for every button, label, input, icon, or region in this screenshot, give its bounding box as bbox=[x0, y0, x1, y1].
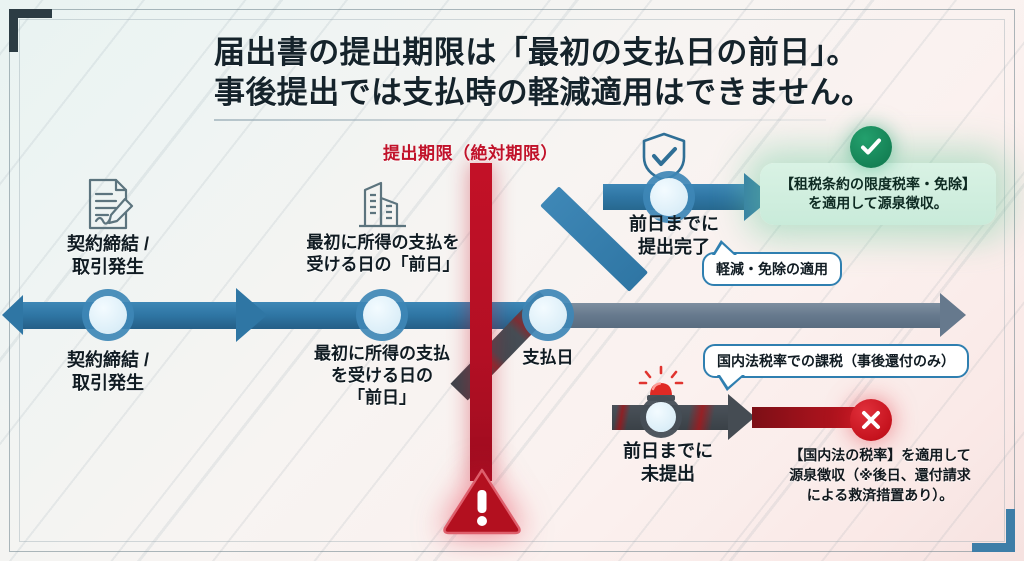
branch-failure-arrowhead bbox=[728, 394, 755, 440]
result-failure-line-1: 【国内法の税率】を適用して bbox=[757, 446, 1003, 466]
timeline-arrowhead-gray bbox=[940, 293, 966, 337]
result-failure-line-2: 源泉徴収（※後日、還付請求 bbox=[757, 466, 1003, 486]
node-contract[interactable] bbox=[89, 296, 127, 334]
title-underline bbox=[214, 119, 826, 121]
result-box-failure: 【国内法の税率】を適用して 源泉徴収（※後日、還付請求 による救済措置あり）。 bbox=[757, 446, 1003, 506]
bubble-reduction-exemption: 軽減・免除の適用 bbox=[702, 252, 842, 286]
bubble-domestic-tax-rate: 国内法税率での課税（事後還付のみ） bbox=[703, 344, 969, 378]
node-day-before-payment[interactable] bbox=[363, 296, 401, 334]
check-circle-icon bbox=[850, 126, 892, 168]
node-submitted-on-time[interactable] bbox=[650, 178, 688, 216]
result-box-success: 【租税条約の限度税率・免除】 を適用して源泉徴収。 bbox=[760, 163, 996, 225]
node-contract-label-above: 契約締結 / 取引発生 bbox=[26, 233, 190, 279]
node-daybefore-label-above: 最初に所得の支払を 受ける日の「前日」 bbox=[278, 232, 488, 276]
node-not-submitted[interactable] bbox=[646, 402, 676, 432]
bubble-failure-text: 国内法税率での課税（事後還付のみ） bbox=[717, 351, 955, 371]
corner-bracket-bottom-right bbox=[972, 509, 1015, 552]
building-icon bbox=[353, 176, 411, 239]
bubble-success-text: 軽減・免除の適用 bbox=[716, 259, 828, 279]
slide-canvas: 届出書の提出期限は「最初の支払日の前日」。 事後提出では支払時の軽減適用はできま… bbox=[0, 0, 1024, 561]
result-success-line-2: を適用して源泉徴収。 bbox=[808, 195, 948, 211]
document-pen-icon bbox=[76, 172, 140, 241]
deadline-vertical-line bbox=[470, 163, 492, 481]
node-daybefore-label-below: 最初に所得の支払 を受ける日の 「前日」 bbox=[286, 343, 478, 408]
timeline-continuation-bar bbox=[534, 303, 948, 328]
node-contract-label-below: 契約締結 / 取引発生 bbox=[26, 349, 190, 395]
bubble-tail-inner-2 bbox=[720, 375, 742, 387]
timeline-arrowhead-blue bbox=[236, 288, 267, 342]
title-line-1: 届出書の提出期限は「最初の支払日の前日」。 bbox=[214, 33, 854, 73]
warning-triangle-icon bbox=[442, 466, 522, 536]
page-title: 届出書の提出期限は「最初の支払日の前日」。 事後提出では支払時の軽減適用はできま… bbox=[214, 33, 854, 114]
node-payment-date-label: 支払日 bbox=[490, 347, 606, 369]
result-success-line-1: 【租税条約の限度税率・免除】 bbox=[780, 176, 976, 192]
deadline-label: 提出期限（絶対期限） bbox=[383, 139, 558, 164]
corner-bracket-top-left bbox=[9, 9, 52, 52]
x-circle-icon bbox=[850, 399, 892, 441]
bubble-tail-inner-1 bbox=[715, 244, 734, 255]
result-failure-line-3: による救済措置あり）。 bbox=[757, 486, 1003, 506]
title-line-2: 事後提出では支払時の軽減適用はできません。 bbox=[214, 73, 854, 113]
node-payment-date[interactable] bbox=[529, 296, 567, 334]
branch-failure-node-label: 前日までに 未提出 bbox=[598, 440, 738, 486]
